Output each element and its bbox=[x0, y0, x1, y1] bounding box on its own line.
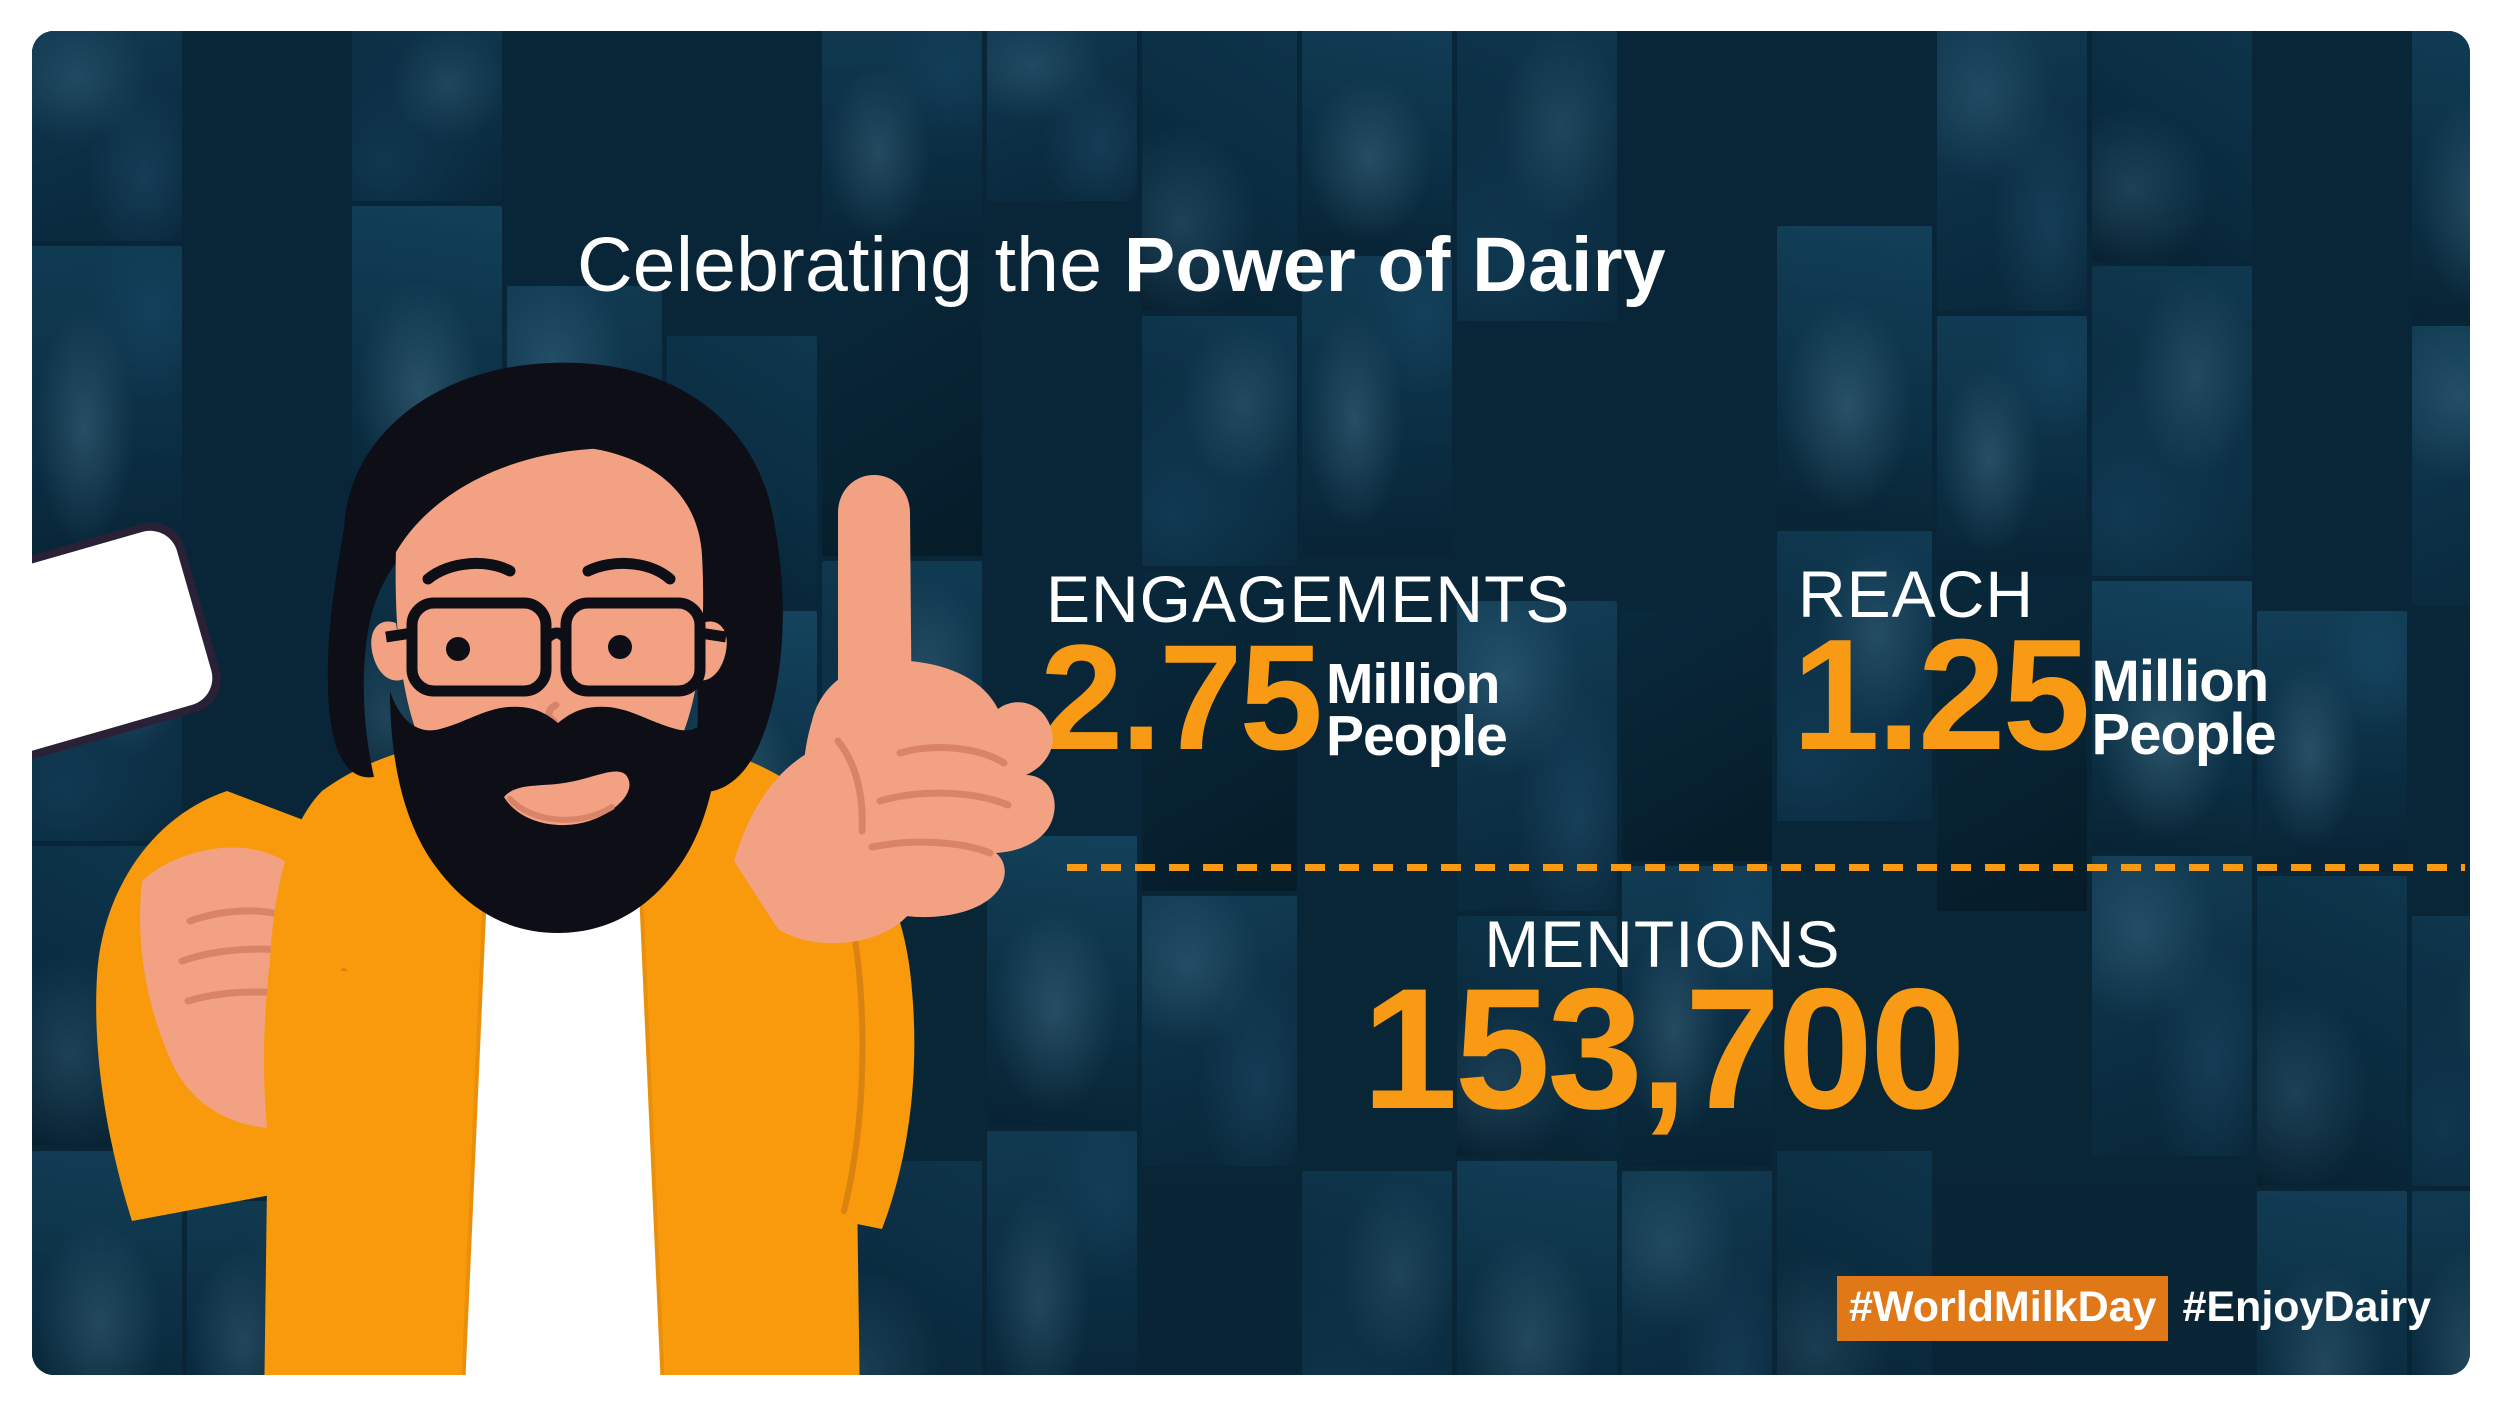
mosaic-column bbox=[2412, 31, 2470, 1375]
stat-engagements-value-row: 2.75 Million People bbox=[1040, 632, 1570, 763]
title-emphasis: Power of Dairy bbox=[1124, 222, 1666, 308]
stat-reach: REACH 1.25 Million People bbox=[1792, 561, 2276, 762]
stat-reach-value-row: 1.25 Million People bbox=[1792, 627, 2276, 762]
poster-content: Celebrating the Power of Dairy ENGAGEMEN… bbox=[32, 31, 2470, 1375]
stat-engagements-unit: Million People bbox=[1326, 658, 1507, 763]
stat-reach-unit-line2: People bbox=[2092, 702, 2276, 767]
mosaic-column bbox=[32, 31, 182, 1375]
hashtag-enjoydairy[interactable]: #EnjoyDairy bbox=[2182, 1276, 2431, 1341]
mosaic-column bbox=[352, 31, 502, 1375]
mosaic-column bbox=[187, 31, 347, 1375]
mosaic-column bbox=[2257, 31, 2407, 1375]
poster-canvas: Celebrating the Power of Dairy ENGAGEMEN… bbox=[0, 0, 2500, 1404]
stat-engagements-value: 2.75 bbox=[1040, 636, 1320, 759]
stat-reach-value: 1.25 bbox=[1792, 631, 2088, 761]
title-lead: Celebrating the bbox=[577, 222, 1124, 308]
stat-engagements-unit-line2: People bbox=[1326, 704, 1507, 768]
stat-engagements: ENGAGEMENTS 2.75 Million People bbox=[1040, 566, 1570, 763]
dashed-divider bbox=[1067, 864, 2465, 871]
hashtag-row: #WorldMilkDay #EnjoyDairy bbox=[1837, 1276, 2431, 1341]
hashtag-worldmilkday[interactable]: #WorldMilkDay bbox=[1837, 1276, 2168, 1341]
stat-mentions: MENTIONS 153,700 bbox=[1362, 911, 1963, 1120]
page-title: Celebrating the Power of Dairy bbox=[577, 227, 1666, 304]
stat-reach-unit: Million People bbox=[2092, 655, 2276, 762]
stat-mentions-value: 153,700 bbox=[1362, 979, 1963, 1120]
